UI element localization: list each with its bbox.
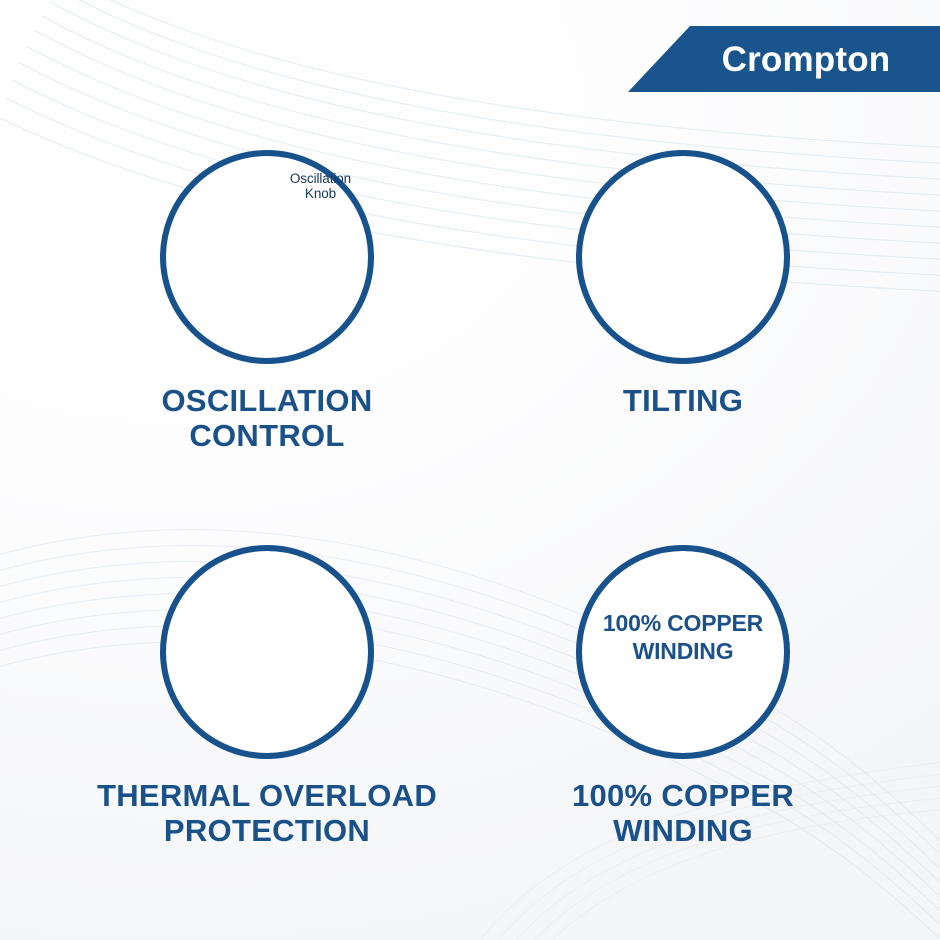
label-line-2: PROTECTION: [57, 814, 477, 849]
feature-label-copper-winding: 100% COPPER WINDING: [473, 779, 893, 848]
label-line-1: OSCILLATION: [161, 383, 372, 418]
badge-line-1: 100% COPPER: [603, 610, 763, 636]
label-line-1: 100% COPPER: [572, 778, 794, 813]
badge-line-2: WINDING: [576, 637, 790, 665]
label-line-1: TILTING: [623, 383, 743, 418]
feature-copper-winding: 100% COPPER WINDING 100% COPPER WINDING: [473, 545, 893, 848]
medallion-copper: 100% COPPER WINDING: [576, 545, 790, 759]
feature-oscillation-control: Oscillation Knob OSCILLATION CONTROL: [57, 150, 477, 453]
label-line-2: WINDING: [473, 814, 893, 849]
annotation-line-2: Knob: [268, 187, 373, 202]
label-line-1: THERMAL OVERLOAD: [97, 778, 437, 813]
feature-label-tilting: TILTING: [473, 384, 893, 419]
medallion-oscillation: Oscillation Knob: [160, 150, 374, 364]
feature-thermal-overload-protection: THERMAL OVERLOAD PROTECTION: [57, 545, 477, 848]
medallion-tilting: [576, 150, 790, 364]
oscillation-knob-annotation: Oscillation Knob: [268, 172, 373, 201]
brand-banner: Crompton: [628, 26, 940, 92]
medallion-ring-tilting: [576, 150, 790, 364]
feature-label-oscillation-control: OSCILLATION CONTROL: [57, 384, 477, 453]
feature-tilting: TILTING: [473, 150, 893, 419]
annotation-line-1: Oscillation: [290, 171, 351, 186]
feature-label-thermal-overload-protection: THERMAL OVERLOAD PROTECTION: [57, 779, 477, 848]
brand-name: Crompton: [722, 42, 891, 77]
copper-badge-text: 100% COPPER WINDING: [576, 609, 790, 665]
medallion-thermal: [160, 545, 374, 759]
medallion-ring-thermal: [160, 545, 374, 759]
label-line-2: CONTROL: [57, 419, 477, 454]
product-feature-poster: Crompton: [0, 0, 940, 940]
